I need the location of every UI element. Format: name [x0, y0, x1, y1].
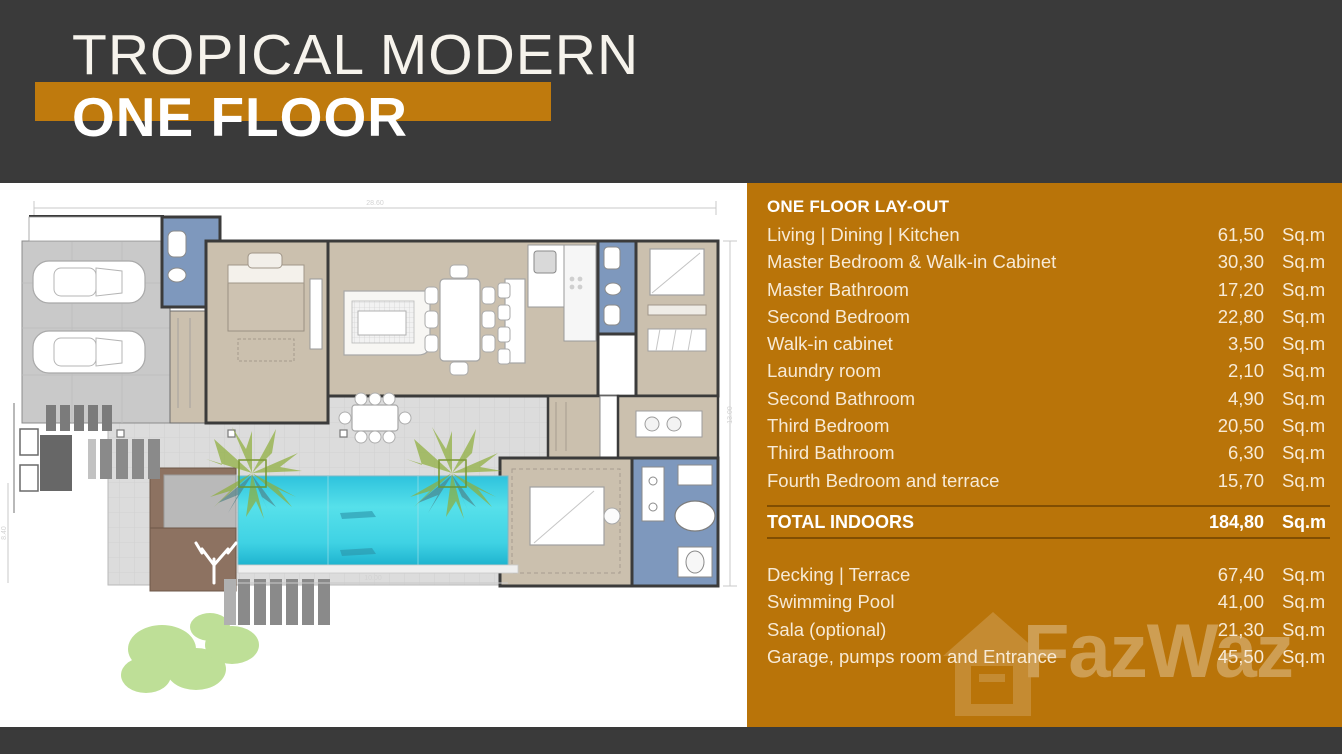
second-bedroom — [206, 241, 328, 423]
room-row: Second Bedroom22,80Sq.m — [767, 303, 1330, 330]
page-title-primary: TROPICAL MODERN — [72, 27, 639, 84]
room-area-unit: Sq.m — [1264, 643, 1330, 670]
room-name: Laundry room — [767, 357, 1186, 384]
room-row: Living | Dining | Kitchen61,50Sq.m — [767, 221, 1330, 248]
car-icon-1 — [33, 261, 145, 303]
room-row: Garage, pumps room and Entrance45,50Sq.m — [767, 643, 1330, 670]
room-row: Laundry room2,10Sq.m — [767, 357, 1330, 384]
room-area-value: 21,30 — [1186, 616, 1264, 643]
room-name: Garage, pumps room and Entrance — [767, 643, 1186, 670]
room-name: Living | Dining | Kitchen — [767, 221, 1186, 248]
room-row: Third Bedroom20,50Sq.m — [767, 412, 1330, 439]
third-bathroom — [598, 241, 636, 334]
room-area-unit: Sq.m — [1264, 439, 1330, 466]
room-row: Third Bathroom6,30Sq.m — [767, 439, 1330, 466]
room-row: Fourth Bedroom and terrace15,70Sq.m — [767, 467, 1330, 494]
room-area-unit: Sq.m — [1264, 248, 1330, 275]
walk-in-cabinet — [548, 396, 618, 458]
room-name: Master Bedroom & Walk-in Cabinet — [767, 248, 1186, 275]
svg-text:28.60: 28.60 — [366, 200, 384, 207]
footer-strip — [0, 727, 1342, 754]
room-row: Decking | Terrace67,40Sq.m — [767, 561, 1330, 588]
svg-text:10.00: 10.00 — [364, 575, 382, 582]
room-area-value: 41,00 — [1186, 588, 1264, 615]
room-row: Master Bathroom17,20Sq.m — [767, 276, 1330, 303]
room-name: Decking | Terrace — [767, 561, 1186, 588]
master-bedroom — [500, 458, 632, 586]
room-area-value: 30,30 — [1186, 248, 1264, 275]
room-row: Second Bathroom4,90Sq.m — [767, 385, 1330, 412]
room-name: Second Bathroom — [767, 385, 1186, 412]
room-area-value: 4,90 — [1186, 385, 1264, 412]
room-row: Master Bedroom & Walk-in Cabinet30,30Sq.… — [767, 248, 1330, 275]
room-row: Walk-in cabinet3,50Sq.m — [767, 330, 1330, 357]
indoor-room-list: Living | Dining | Kitchen61,50Sq.mMaster… — [767, 221, 1330, 494]
room-area-unit: Sq.m — [1264, 276, 1330, 303]
sala-pavilion — [150, 468, 236, 591]
room-area-value: 3,50 — [1186, 330, 1264, 357]
room-name: Master Bathroom — [767, 276, 1186, 303]
driveway-paving — [88, 439, 160, 479]
room-row: Swimming Pool41,00Sq.m — [767, 588, 1330, 615]
room-name: Third Bathroom — [767, 439, 1186, 466]
sofa — [344, 291, 430, 355]
laundry-room — [618, 396, 718, 458]
floor-plan-svg: 28.60 13.00 10.00 8.40 — [0, 183, 746, 727]
room-area-unit: Sq.m — [1264, 412, 1330, 439]
room-area-unit: Sq.m — [1264, 357, 1330, 384]
room-area-unit: Sq.m — [1264, 588, 1330, 615]
total-indoors-block: TOTAL INDOORS 184,80 Sq.m — [767, 505, 1330, 539]
room-area-value: 2,10 — [1186, 357, 1264, 384]
room-area-value: 17,20 — [1186, 276, 1264, 303]
total-indoors-row: TOTAL INDOORS 184,80 Sq.m — [767, 507, 1330, 537]
room-area-unit: Sq.m — [1264, 303, 1330, 330]
room-area-unit: Sq.m — [1264, 467, 1330, 494]
room-area-unit: Sq.m — [1264, 561, 1330, 588]
room-area-unit: Sq.m — [1264, 385, 1330, 412]
garage — [22, 217, 170, 423]
outdoor-room-list: Decking | Terrace67,40Sq.mSwimming Pool4… — [767, 561, 1330, 670]
room-row: Sala (optional)21,30Sq.m — [767, 616, 1330, 643]
room-name: Second Bedroom — [767, 303, 1186, 330]
floor-plan-drawing: 28.60 13.00 10.00 8.40 Ground Floor Plan… — [0, 183, 746, 727]
boundary-hatch — [46, 405, 112, 431]
room-name: Swimming Pool — [767, 588, 1186, 615]
room-area-value: 20,50 — [1186, 412, 1264, 439]
room-area-value: 61,50 — [1186, 221, 1264, 248]
room-area-value: 6,30 — [1186, 439, 1264, 466]
total-rule-top — [767, 505, 1330, 507]
room-area-unit: Sq.m — [1264, 221, 1330, 248]
master-bathroom — [632, 458, 718, 586]
paving-steps — [224, 579, 330, 625]
room-name: Fourth Bedroom and terrace — [767, 467, 1186, 494]
page-title-secondary: ONE FLOOR — [72, 90, 408, 145]
total-rule-bottom — [767, 537, 1330, 539]
panel-title: ONE FLOOR LAY-OUT — [767, 197, 1330, 217]
room-name: Sala (optional) — [767, 616, 1186, 643]
third-bedroom — [636, 241, 718, 396]
room-name: Third Bedroom — [767, 412, 1186, 439]
room-area-unit: Sq.m — [1264, 330, 1330, 357]
total-value: 184,80 — [1186, 507, 1264, 537]
room-schedule-panel: FazWaz ONE FLOOR LAY-OUT Living | Dining… — [747, 183, 1342, 727]
car-icon-2 — [33, 331, 145, 373]
room-area-value: 22,80 — [1186, 303, 1264, 330]
room-area-value: 15,70 — [1186, 467, 1264, 494]
total-label: TOTAL INDOORS — [767, 507, 1186, 537]
svg-text:13.00: 13.00 — [727, 406, 734, 424]
header-banner: TROPICAL MODERN ONE FLOOR — [0, 0, 1342, 183]
room-name: Walk-in cabinet — [767, 330, 1186, 357]
total-unit: Sq.m — [1264, 507, 1330, 537]
room-area-value: 45,50 — [1186, 643, 1264, 670]
room-area-unit: Sq.m — [1264, 616, 1330, 643]
room-area-value: 67,40 — [1186, 561, 1264, 588]
living-dining-kitchen — [328, 241, 598, 396]
svg-text:8.40: 8.40 — [1, 526, 8, 540]
